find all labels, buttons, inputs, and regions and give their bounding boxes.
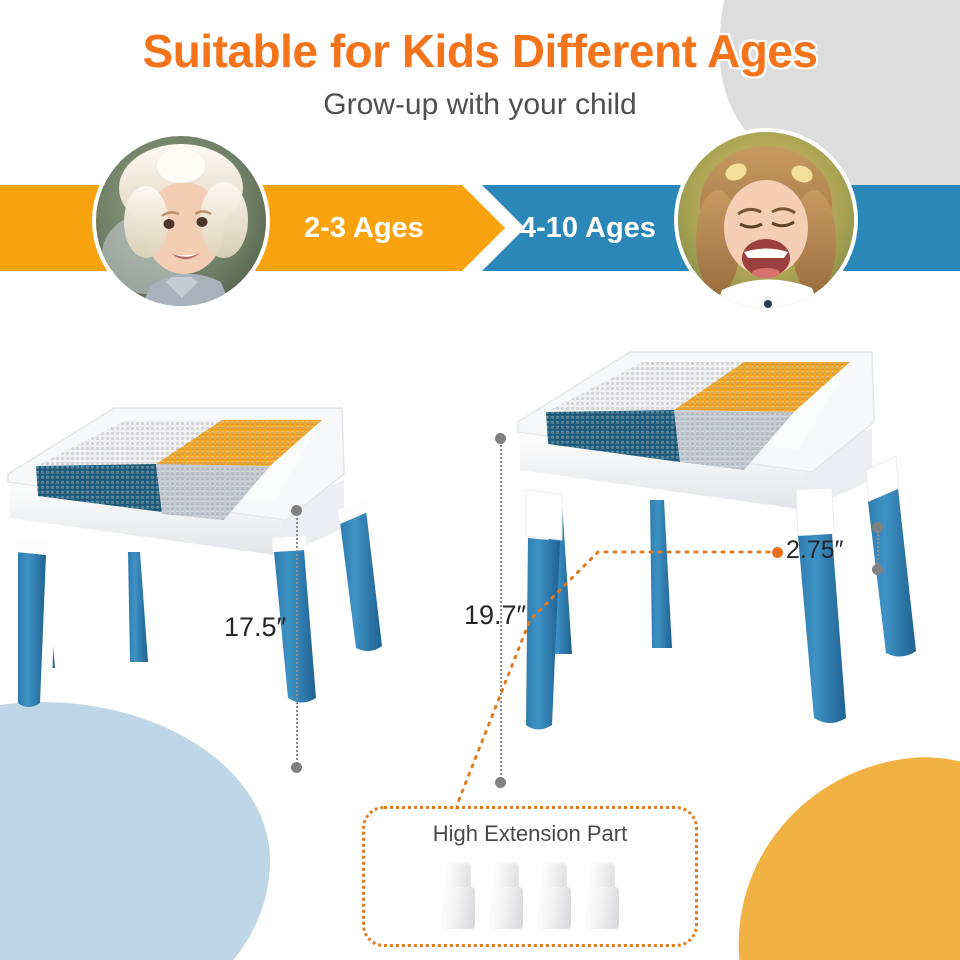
extension-piece-body <box>441 887 475 929</box>
page-title: Suitable for Kids Different Ages <box>0 24 960 78</box>
height-label-left-table: 17.5″ <box>224 612 286 643</box>
extension-piece <box>585 861 619 929</box>
child-photo-toddler <box>96 136 266 306</box>
child-photo-older <box>678 132 854 308</box>
extension-piece <box>489 861 523 929</box>
dim-line-left-table <box>296 513 298 764</box>
extension-box-title: High Extension Part <box>365 821 695 847</box>
callout-anchor-dot <box>772 547 783 558</box>
dim-line-extension <box>877 531 879 567</box>
toddler-girl-image <box>96 136 266 306</box>
extension-piece-body <box>489 887 523 929</box>
extension-piece-top <box>541 861 567 889</box>
age-label-older: 4-10 Ages <box>520 185 656 271</box>
extension-piece <box>441 861 475 929</box>
extension-piece-body <box>537 887 571 929</box>
extension-piece-top <box>589 861 615 889</box>
infographic-page: Suitable for Kids Different Ages Grow-up… <box>0 0 960 960</box>
age-label-younger: 2-3 Ages <box>304 185 424 271</box>
extension-piece-top <box>493 861 519 889</box>
extension-piece-body <box>585 887 619 929</box>
extension-piece-top <box>445 861 471 889</box>
dim-dot-bottom-extension <box>872 564 883 575</box>
product-image-low-table <box>0 400 440 800</box>
dim-dot-bottom-left-table <box>291 762 302 773</box>
laughing-girl-image <box>678 132 854 308</box>
callout-leader-line <box>380 540 800 820</box>
page-subtitle: Grow-up with your child <box>0 88 960 122</box>
extension-piece <box>537 861 571 929</box>
extension-part-callout-box: High Extension Part <box>362 806 698 947</box>
extension-parts-row <box>365 861 695 929</box>
